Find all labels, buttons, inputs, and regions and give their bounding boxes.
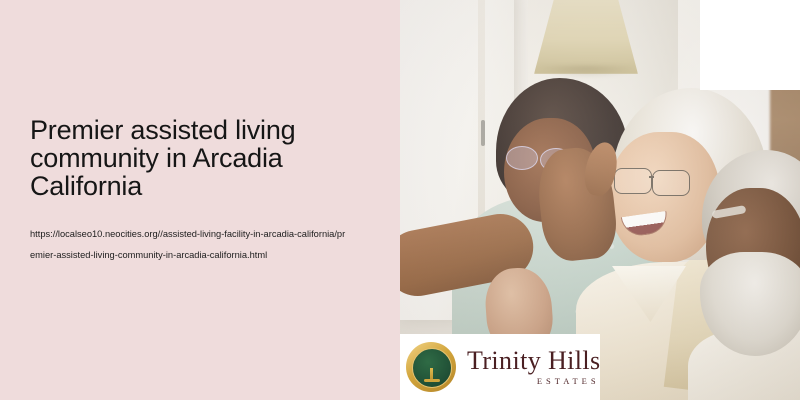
brand-name: Trinity Hills <box>467 348 601 374</box>
person1-glasses-left <box>506 146 538 170</box>
page-title: Premier assisted living community in Arc… <box>30 116 375 200</box>
seo-banner: Premier assisted living community in Arc… <box>0 0 800 400</box>
qr-code-backdrop <box>700 0 800 90</box>
emblem-inner-circle <box>412 348 452 388</box>
tree-in-circle-emblem <box>406 342 456 392</box>
lamp-shadow <box>534 66 638 78</box>
person2-glasses-bridge <box>649 176 654 178</box>
text-panel: Premier assisted living community in Arc… <box>0 0 400 400</box>
page-url[interactable]: https://localseo10.neocities.org//assist… <box>30 224 350 266</box>
brand-wordmark: Trinity Hills ESTATES <box>467 348 601 386</box>
person2-face <box>608 132 720 262</box>
person2-glasses-left <box>614 168 652 194</box>
person2-glasses-right <box>652 170 690 196</box>
tree-root-icon <box>424 379 440 382</box>
brand-logo: Trinity Hills ESTATES <box>400 334 600 400</box>
window-handle <box>481 120 485 146</box>
brand-subtitle: ESTATES <box>537 377 600 386</box>
